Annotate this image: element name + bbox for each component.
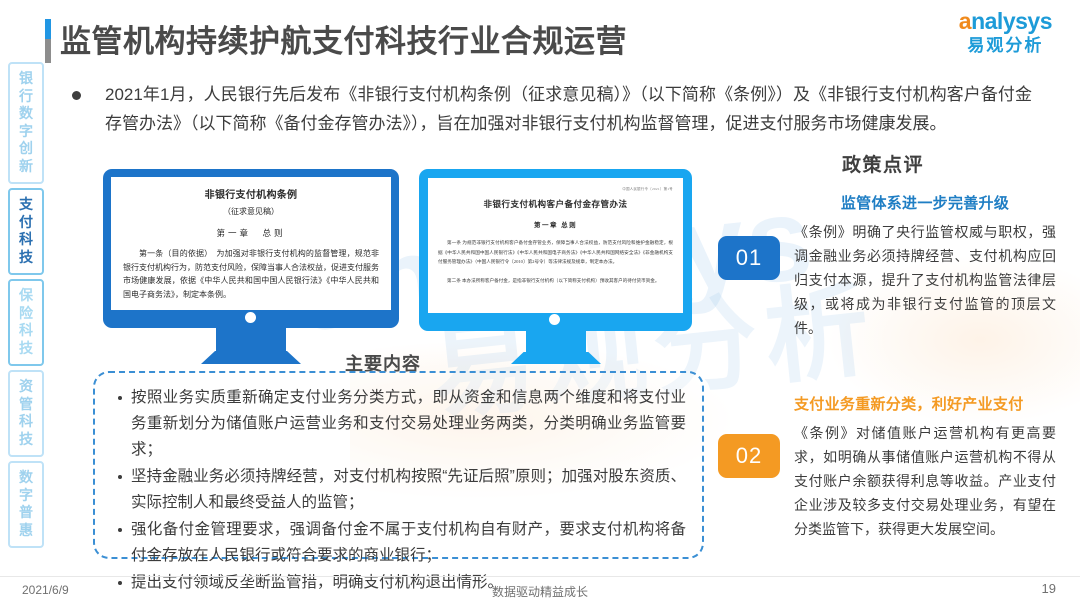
main-content-list: 按照业务实质重新确定支付业务分类方式，即从资金和信息两个维度和将支付业务重新划分… — [95, 373, 702, 596]
sidebar-item-asset-management-tech[interactable]: 资 管 科 技 — [8, 370, 44, 457]
commentary-title: 政策点评 — [842, 150, 924, 177]
footer-page-number: 19 — [1042, 581, 1056, 596]
tab-char: 资 — [10, 378, 42, 396]
intro-bullet-text: 2021年1月，人民银行先后发布《非银行支付机构条例（征求意见稿）》（以下简称《… — [105, 80, 1032, 138]
tab-char: 支 — [10, 196, 42, 214]
tab-char: 创 — [10, 140, 42, 158]
commentary-block-2: 支付业务重新分类，利好产业支付 《条例》对储值账户运营机构有更高要求，如明确从事… — [794, 393, 1056, 541]
document-title: 非银行支付机构客户备付金存管办法 — [438, 198, 673, 210]
monitor-screen: 非银行支付机构条例 （征求意见稿） 第一章 总则 第一条（目的依据） 为加强对非… — [111, 177, 391, 310]
monitor-1-base — [201, 351, 301, 364]
monitor-power-dot-icon — [549, 314, 560, 325]
tab-char: 技 — [10, 431, 42, 449]
title-accent-bar — [45, 19, 51, 63]
document-page: 中国人民银行令〔2021〕第1号 非银行支付机构客户备付金存管办法 第一章 总则… — [428, 178, 683, 285]
tab-char: 险 — [10, 305, 42, 323]
tab-char: 数 — [10, 469, 42, 487]
tab-char: 惠 — [10, 522, 42, 540]
tab-char: 技 — [10, 340, 42, 358]
sidebar: 银 行 数 字 创 新 支 付 科 技 保 险 科 技 资 管 科 技 数 字 — [8, 62, 48, 552]
tab-char: 新 — [10, 158, 42, 176]
tab-char: 字 — [10, 487, 42, 505]
sidebar-item-insurance-tech[interactable]: 保 险 科 技 — [8, 279, 44, 366]
logo-wordmark: analysys — [959, 10, 1052, 33]
commentary-body: 《条例》明确了央行监管权威与职权，强调金融业务必须持牌经营、支付机构应回归支付本… — [794, 220, 1056, 340]
document-title: 非银行支付机构条例 — [123, 186, 379, 201]
tab-char: 普 — [10, 504, 42, 522]
commentary-block-1: 监管体系进一步完善升级 《条例》明确了央行监管权威与职权，强调金融业务必须持牌经… — [794, 192, 1056, 340]
tab-char: 银 — [10, 70, 42, 88]
sidebar-item-payment-tech[interactable]: 支 付 科 技 — [8, 188, 44, 275]
analysys-logo: analysys 易观分析 — [959, 10, 1052, 54]
commentary-heading: 支付业务重新分类，利好产业支付 — [794, 393, 1056, 414]
list-item: 强化备付金管理要求，强调备付金不属于支付机构自有财产，要求支付机构将备付金存放在… — [117, 517, 686, 569]
monitor-custody-rules: 中国人民银行令〔2021〕第1号 非银行支付机构客户备付金存管办法 第一章 总则… — [419, 169, 692, 331]
footer-slogan: 数据驱动精益成长 — [0, 583, 1080, 600]
badge-02: 02 — [718, 434, 780, 478]
document-chapter: 第一章 总则 — [438, 219, 673, 229]
list-item: 坚持金融业务必须持牌经营，对支付机构按照“先证后照”原则；加强对股东资质、实际控… — [117, 464, 686, 516]
monitor-bezel: 中国人民银行令〔2021〕第1号 非银行支付机构客户备付金存管办法 第一章 总则… — [419, 169, 692, 331]
document-subtitle: （征求意见稿） — [123, 206, 379, 217]
document-body: 第一条 为规范非银行支付机构客户备付金存管业务，保障当事人合法权益，防范支付风险… — [438, 238, 673, 267]
document-body-2: 第二条 本办法所称客户备付金，是指非银行支付机构（以下简称支付机构）预收其客户的… — [438, 276, 673, 286]
document-header-note: 中国人民银行令〔2021〕第1号 — [438, 186, 673, 191]
tab-char: 科 — [10, 231, 42, 249]
tab-char: 字 — [10, 123, 42, 141]
footer-divider — [0, 576, 1080, 577]
intro-bullet: 2021年1月，人民银行先后发布《非银行支付机构条例（征求意见稿）》（以下简称《… — [72, 80, 1032, 138]
document-chapter: 第一章 总则 — [123, 227, 379, 239]
main-content-box: 按照业务实质重新确定支付业务分类方式，即从资金和信息两个维度和将支付业务重新划分… — [93, 371, 704, 559]
monitor-bezel: 非银行支付机构条例 （征求意见稿） 第一章 总则 第一条（目的依据） 为加强对非… — [103, 169, 399, 328]
tab-char: 科 — [10, 413, 42, 431]
badge-01: 01 — [718, 236, 780, 280]
tab-char: 管 — [10, 396, 42, 414]
monitor-2-base — [511, 352, 601, 364]
sidebar-item-bank-digital-innovation[interactable]: 银 行 数 字 创 新 — [8, 62, 44, 184]
commentary-body: 《条例》对储值账户运营机构有更高要求，如明确从事储值账户运营机构不得从支付账户余… — [794, 421, 1056, 541]
monitor-regulation-draft: 非银行支付机构条例 （征求意见稿） 第一章 总则 第一条（目的依据） 为加强对非… — [103, 169, 399, 328]
slide-root: analysys 易观分析 监管机构持续护航支付科技行业合规运营 analysy… — [0, 0, 1080, 608]
tab-char: 付 — [10, 214, 42, 232]
logo-letter-a: a — [959, 8, 971, 34]
monitor-power-dot-icon — [245, 312, 256, 323]
commentary-heading: 监管体系进一步完善升级 — [794, 192, 1056, 213]
logo-wordmark-rest: nalysys — [971, 8, 1052, 34]
tab-char: 行 — [10, 88, 42, 106]
logo-chinese-name: 易观分析 — [959, 37, 1052, 54]
document-page: 非银行支付机构条例 （征求意见稿） 第一章 总则 第一条（目的依据） 为加强对非… — [111, 177, 391, 301]
document-body: 第一条（目的依据） 为加强对非银行支付机构的监督管理，规范非银行支付机构行为，防… — [123, 247, 379, 301]
tab-char: 技 — [10, 249, 42, 267]
list-item: 按照业务实质重新确定支付业务分类方式，即从资金和信息两个维度和将支付业务重新划分… — [117, 385, 686, 463]
monitor-screen: 中国人民银行令〔2021〕第1号 非银行支付机构客户备付金存管办法 第一章 总则… — [428, 178, 683, 313]
page-title: 监管机构持续护航支付科技行业合规运营 — [60, 16, 627, 61]
tab-char: 科 — [10, 322, 42, 340]
bullet-dot-icon — [72, 91, 81, 100]
tab-char: 数 — [10, 105, 42, 123]
tab-char: 保 — [10, 287, 42, 305]
sidebar-item-digital-inclusive-finance[interactable]: 数 字 普 惠 — [8, 461, 44, 548]
